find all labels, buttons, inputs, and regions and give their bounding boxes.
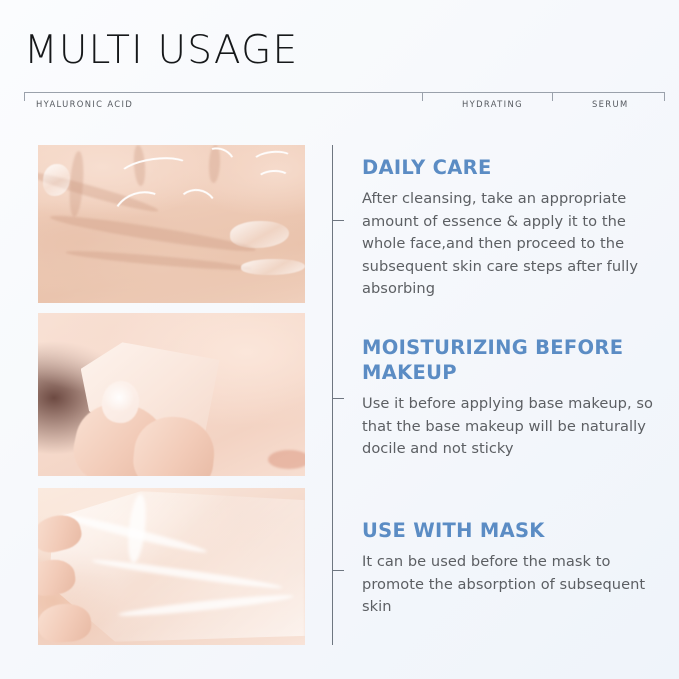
rule-tick-right (664, 92, 665, 101)
page-title: MULTI USAGE (24, 28, 298, 74)
section-heading-use-with-mask: USE WITH MASK (362, 518, 662, 543)
header-divider-rule (24, 92, 665, 93)
header-label-hyaluronic-acid: HYALURONIC ACID (36, 99, 133, 109)
section-body-use-with-mask: It can be used before the mask to promot… (362, 551, 662, 619)
product-photo-daily-care (38, 145, 305, 303)
usage-section-daily-care: DAILY CARE After cleansing, take an appr… (362, 155, 662, 301)
rule-tick-middle-1 (422, 92, 423, 101)
section-heading-daily-care: DAILY CARE (362, 155, 662, 180)
divider-tick-section-3 (332, 570, 344, 571)
header-label-serum: SERUM (592, 99, 629, 109)
section-heading-moisturizing-before-makeup: MOISTURIZING BEFORE MAKEUP (362, 335, 662, 385)
divider-tick-section-2 (332, 398, 344, 399)
header-label-hydrating: HYDRATING (462, 99, 523, 109)
section-body-daily-care: After cleansing, take an appropriate amo… (362, 188, 662, 301)
rule-tick-left (24, 92, 25, 101)
divider-tick-section-1 (332, 220, 344, 221)
usage-section-use-with-mask: USE WITH MASK It can be used before the … (362, 518, 662, 619)
photo-gel-blob (241, 259, 305, 275)
usage-section-moisturizing-before-makeup: MOISTURIZING BEFORE MAKEUP Use it before… (362, 335, 662, 461)
product-photo-sheet-mask (38, 488, 305, 645)
product-photo-before-makeup (38, 313, 305, 476)
infographic-page: MULTI USAGE HYALURONIC ACID HYDRATING SE… (0, 0, 679, 679)
section-body-moisturizing-before-makeup: Use it before applying base makeup, so t… (362, 393, 662, 461)
rule-tick-middle-2 (552, 92, 553, 101)
